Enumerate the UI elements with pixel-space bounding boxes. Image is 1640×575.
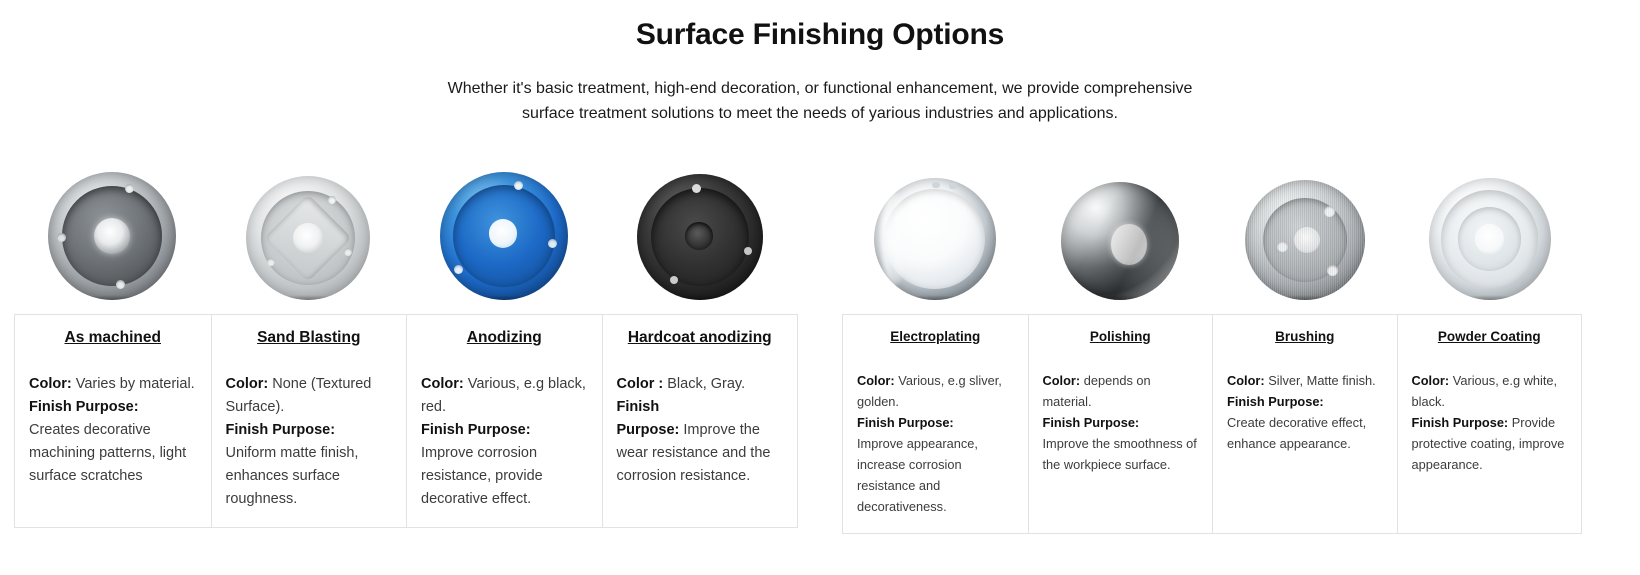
powder-coating-image-cell xyxy=(1397,160,1582,300)
card-body-anodizing: Color: Various, e.g black, red. Finish P… xyxy=(421,373,588,511)
finish-purpose-value: Improve the smoothness of the workpiece … xyxy=(1043,436,1197,472)
sand-blasting-image-cell xyxy=(210,160,406,300)
page-subtitle: Whether it's basic treatment, high-end d… xyxy=(425,76,1215,126)
machining-finishes-image-row xyxy=(14,160,798,300)
card-body-powder-coating: Color: Various, e.g white, black. Finish… xyxy=(1412,370,1568,475)
brushing-image-cell xyxy=(1212,160,1397,300)
card-title-polishing: Polishing xyxy=(1043,329,1199,344)
as-machined-part-photo xyxy=(48,172,176,300)
hardcoat-anodizing-part-photo xyxy=(637,174,763,300)
sand-blasting-part-photo xyxy=(246,176,370,300)
brushing-part-photo xyxy=(1245,180,1365,300)
color-label: Color: xyxy=(857,373,895,388)
card-body-brushing: Color: Silver, Matte finish. Finish Purp… xyxy=(1227,370,1383,454)
finish-purpose-label: Finish Purpose: xyxy=(226,422,336,438)
page-title: Surface Finishing Options xyxy=(0,18,1640,52)
color-label: Color: xyxy=(421,376,464,392)
finish-purpose-value: Creates decorative machining patterns, l… xyxy=(29,422,186,484)
card-title-sand-blasting: Sand Blasting xyxy=(226,329,393,347)
color-label: Color: xyxy=(29,376,72,392)
card-body-hardcoat-anodizing: Color : Black, Gray. Finish Purpose: Imp… xyxy=(617,373,784,488)
finish-purpose-value: Improve appearance, increase corrosion r… xyxy=(857,436,978,514)
anodizing-image-cell xyxy=(406,160,602,300)
finish-label: Finish xyxy=(617,399,660,415)
card-title-anodizing: Anodizing xyxy=(421,329,588,347)
finish-purpose-value: Improve corrosion resistance, provide de… xyxy=(421,445,543,507)
powder-coating-part-photo xyxy=(1429,178,1551,300)
card-electroplating[interactable]: Electroplating Color: Various, e.g slive… xyxy=(843,315,1028,533)
finishing-options-groups: As machined Color: Varies by material. F… xyxy=(0,160,1640,534)
finish-purpose-label: Finish Purpose: xyxy=(1043,415,1140,430)
finish-purpose-label: Finish Purpose: xyxy=(1412,415,1509,430)
as-machined-image-cell xyxy=(14,160,210,300)
polishing-image-cell xyxy=(1027,160,1212,300)
machining-finishes-group: As machined Color: Varies by material. F… xyxy=(14,160,798,528)
card-title-powder-coating: Powder Coating xyxy=(1412,329,1568,344)
finish-purpose-label: Finish Purpose: xyxy=(857,415,954,430)
card-anodizing[interactable]: Anodizing Color: Various, e.g black, red… xyxy=(406,315,602,527)
card-body-sand-blasting: Color: None (Textured Surface). Finish P… xyxy=(226,373,393,511)
card-hardcoat-anodizing[interactable]: Hardcoat anodizing Color : Black, Gray. … xyxy=(602,315,798,527)
card-title-hardcoat-anodizing: Hardcoat anodizing xyxy=(617,329,784,347)
anodizing-part-photo xyxy=(440,172,568,300)
card-as-machined[interactable]: As machined Color: Varies by material. F… xyxy=(15,315,211,527)
machining-finishes-card-table: As machined Color: Varies by material. F… xyxy=(14,314,798,528)
page-header: Surface Finishing Options Whether it's b… xyxy=(0,0,1640,126)
electroplating-part-photo xyxy=(874,178,996,300)
card-body-as-machined: Color: Varies by material. Finish Purpos… xyxy=(29,373,197,488)
finish-purpose-label: Finish Purpose: xyxy=(1227,394,1324,409)
color-label: Color: xyxy=(1412,373,1450,388)
purpose-label: Purpose: xyxy=(617,422,680,438)
color-value: Varies by material. xyxy=(76,376,195,392)
decorative-finishes-image-row xyxy=(842,160,1582,300)
polishing-part-photo xyxy=(1061,182,1179,300)
card-title-as-machined: As machined xyxy=(29,329,197,347)
card-polishing[interactable]: Polishing Color: depends on material. Fi… xyxy=(1028,315,1213,533)
color-label: Color : xyxy=(617,376,664,392)
card-sand-blasting[interactable]: Sand Blasting Color: None (Textured Surf… xyxy=(211,315,407,527)
color-value: Black, Gray. xyxy=(667,376,745,392)
finish-purpose-value: Uniform matte finish, enhances surface r… xyxy=(226,445,359,507)
finish-purpose-value: Create decorative effect, enhance appear… xyxy=(1227,415,1366,451)
card-title-brushing: Brushing xyxy=(1227,329,1383,344)
finish-purpose-label: Finish Purpose: xyxy=(29,399,139,415)
color-value: Silver, Matte finish. xyxy=(1268,373,1375,388)
decorative-finishes-group: Electroplating Color: Various, e.g slive… xyxy=(842,160,1582,534)
card-powder-coating[interactable]: Powder Coating Color: Various, e.g white… xyxy=(1397,315,1582,533)
color-label: Color: xyxy=(226,376,269,392)
color-label: Color: xyxy=(1043,373,1081,388)
card-brushing[interactable]: Brushing Color: Silver, Matte finish. Fi… xyxy=(1212,315,1397,533)
card-body-polishing: Color: depends on material. Finish Purpo… xyxy=(1043,370,1199,475)
hardcoat-anodizing-image-cell xyxy=(602,160,798,300)
card-title-electroplating: Electroplating xyxy=(857,329,1014,344)
decorative-finishes-card-table: Electroplating Color: Various, e.g slive… xyxy=(842,314,1582,534)
color-label: Color: xyxy=(1227,373,1265,388)
electroplating-image-cell xyxy=(842,160,1027,300)
card-body-electroplating: Color: Various, e.g sliver, golden. Fini… xyxy=(857,370,1014,517)
finish-purpose-label: Finish Purpose: xyxy=(421,422,531,438)
